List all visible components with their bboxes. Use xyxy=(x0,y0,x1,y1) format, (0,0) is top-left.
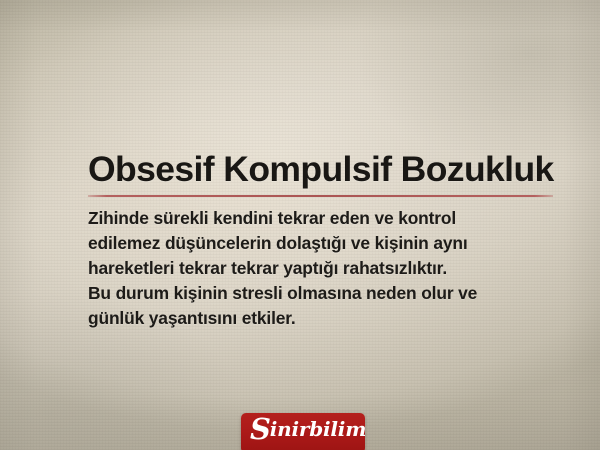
body-line: günlük yaşantısını etkiler. xyxy=(88,306,556,331)
exhibition-wall-panel: Obsesif Kompulsif Bozukluk Zihinde sürek… xyxy=(0,0,600,450)
panel-text-block: Obsesif Kompulsif Bozukluk Zihinde sürek… xyxy=(88,150,556,331)
logo-remaining-letters: inirbilim xyxy=(270,417,365,441)
body-line: Bu durum kişinin stresli olmasına neden … xyxy=(88,281,556,306)
body-line: Zihinde sürekli kendini tekrar eden ve k… xyxy=(88,206,556,231)
logo-wordmark: Sinirbilim xyxy=(250,414,365,444)
panel-body-text: Zihinde sürekli kendini tekrar eden ve k… xyxy=(88,206,556,331)
title-underline-rule xyxy=(88,195,553,197)
body-line: edilemez düşüncelerin dolaştığı ve kişin… xyxy=(88,231,556,256)
sinirbilim-logo-badge: Sinirbilim xyxy=(241,413,365,450)
panel-title: Obsesif Kompulsif Bozukluk xyxy=(88,150,556,188)
body-line: hareketleri tekrar tekrar yaptığı rahats… xyxy=(88,256,556,281)
logo-initial-letter: S xyxy=(250,413,271,446)
